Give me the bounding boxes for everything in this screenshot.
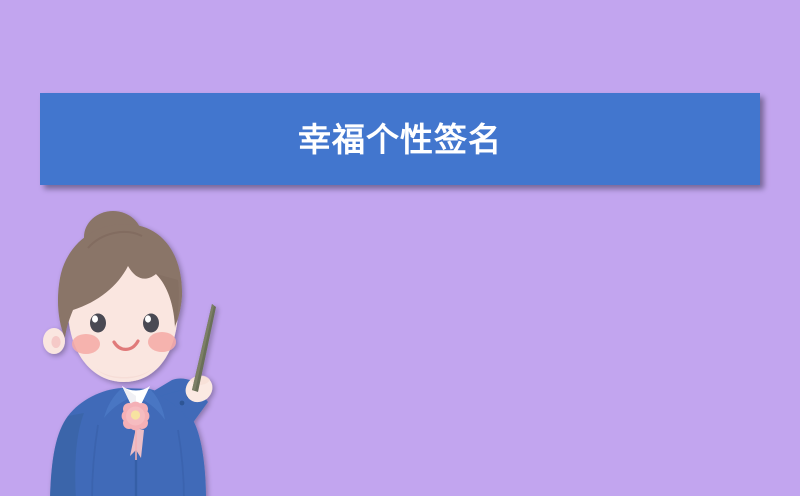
page-title: 幸福个性签名 [298,123,502,156]
teacher-illustration [10,210,240,496]
title-banner: 幸福个性签名 [40,93,760,185]
ear [43,328,65,354]
page-root: 幸福个性签名 [0,0,800,496]
